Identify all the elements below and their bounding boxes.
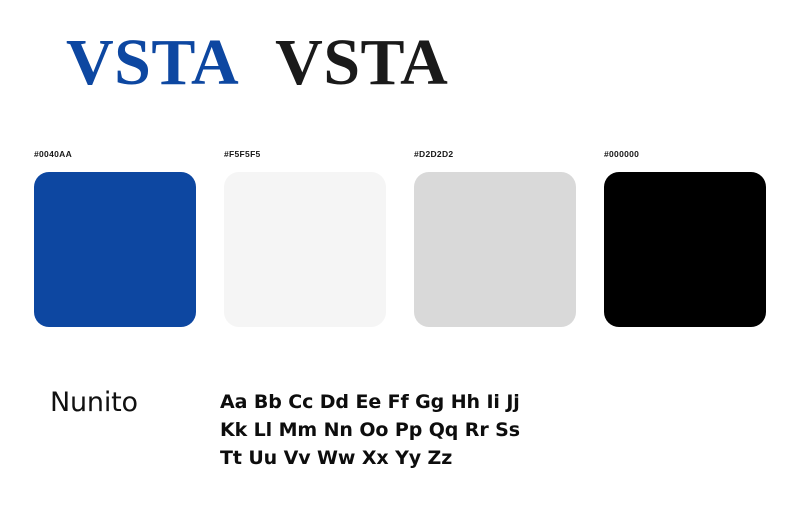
color-swatch-label: #000000 <box>604 148 766 160</box>
color-swatch-light-gray: #D2D2D2 <box>414 148 576 327</box>
color-swatch-label: #0040AA <box>34 148 196 160</box>
color-swatch-black: #000000 <box>604 148 766 327</box>
color-swatch-chip <box>604 172 766 327</box>
color-swatch-chip <box>414 172 576 327</box>
color-swatch-primary-blue: #0040AA <box>34 148 196 327</box>
color-swatch-label: #D2D2D2 <box>414 148 576 160</box>
font-specimen: Aa Bb Cc Dd Ee Ff Gg Hh Ii Jj Kk Ll Mm N… <box>220 388 520 472</box>
color-swatch-chip <box>34 172 196 327</box>
color-swatch-off-white: #F5F5F5 <box>224 148 386 327</box>
specimen-line: Kk Ll Mm Nn Oo Pp Qq Rr Ss <box>220 416 520 444</box>
font-family-name: Nunito <box>50 386 220 420</box>
color-swatch-label: #F5F5F5 <box>224 148 386 160</box>
specimen-line: Aa Bb Cc Dd Ee Ff Gg Hh Ii Jj <box>220 388 520 416</box>
color-palette: #0040AA #F5F5F5 #D2D2D2 #000000 <box>34 148 766 327</box>
specimen-line: Tt Uu Vv Ww Xx Yy Zz <box>220 444 520 472</box>
logo-wordmark-secondary: VSTA <box>275 30 448 96</box>
color-swatch-chip <box>224 172 386 327</box>
typography-section: Nunito Aa Bb Cc Dd Ee Ff Gg Hh Ii Jj Kk … <box>50 386 750 472</box>
logo-lockup-row: VSTA VSTA <box>66 30 448 96</box>
logo-wordmark-primary: VSTA <box>66 30 239 96</box>
